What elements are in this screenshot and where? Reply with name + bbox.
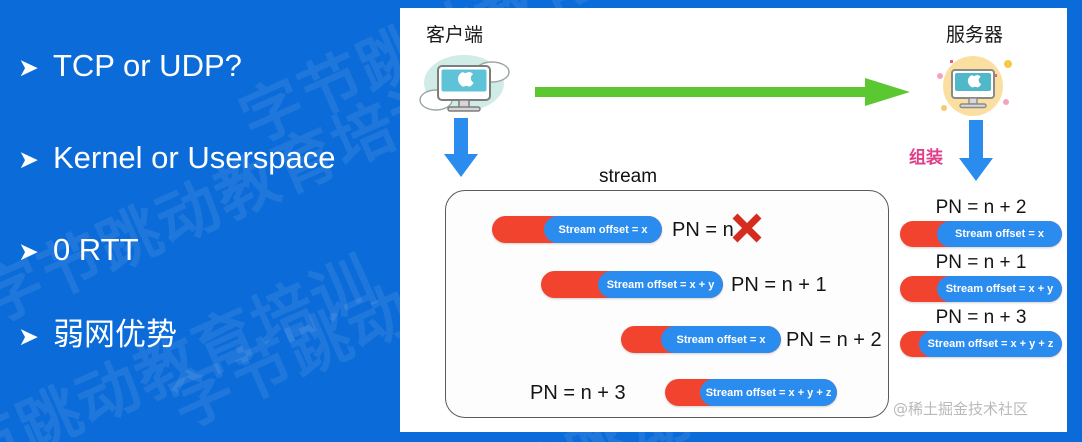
stream-offset-label: Stream offset = x bbox=[661, 326, 781, 353]
assemble-label: 组装 bbox=[909, 143, 943, 168]
packet-number-label: PN = n + 2 bbox=[786, 329, 882, 352]
bullet-item-zero-rtt: ➤ 0 RTT bbox=[18, 234, 139, 265]
packet-number-label: PN = n + 1 bbox=[731, 274, 827, 297]
bullet-item-weak-network-advantage: ➤ 弱网优势 bbox=[18, 320, 177, 351]
stream-offset-label: Stream offset = x + y bbox=[598, 271, 723, 298]
stream-offset-label: Stream offset = x + y + z bbox=[919, 331, 1062, 357]
right-edge-strip bbox=[1071, 0, 1082, 442]
client-label: 客户端 bbox=[426, 20, 483, 47]
red-x-icon bbox=[730, 211, 764, 245]
reassembled-packet: Stream offset = x bbox=[900, 221, 1062, 247]
bullet-item-kernel-or-userspace: ➤ Kernel or Userspace bbox=[18, 142, 336, 173]
bullet-arrow-icon: ➤ bbox=[18, 147, 39, 172]
reassembled-packet: Stream offset = x + y bbox=[900, 276, 1062, 302]
green-right-arrow-icon bbox=[535, 70, 910, 114]
bullet-label: Kernel or Userspace bbox=[53, 142, 336, 173]
stream-offset-label: Stream offset = x bbox=[937, 221, 1062, 247]
packet-number-label: PN = n + 1 bbox=[900, 253, 1062, 273]
server-label: 服务器 bbox=[946, 20, 1003, 47]
packet-number-label: PN = n + 3 bbox=[900, 308, 1062, 328]
bullet-item-tcp-or-udp: ➤ TCP or UDP? bbox=[18, 50, 242, 81]
quic-stream-diagram: 客户端 服务器 组装 bbox=[400, 8, 1067, 432]
stream-packet: Stream offset = x bbox=[492, 216, 662, 243]
bullet-arrow-icon: ➤ bbox=[18, 55, 39, 80]
blue-down-arrow-icon bbox=[955, 120, 997, 182]
blue-down-arrow-icon bbox=[440, 118, 482, 178]
reassembled-packet: Stream offset = x + y + z bbox=[900, 331, 1062, 357]
apple-monitor-burst-icon bbox=[928, 48, 1018, 124]
bullet-arrow-icon: ➤ bbox=[18, 324, 39, 349]
stream-offset-label: Stream offset = x bbox=[544, 216, 662, 243]
stream-packet: Stream offset = x + y + z bbox=[665, 379, 837, 406]
stream-packet: Stream offset = x bbox=[621, 326, 781, 353]
bullet-arrow-icon: ➤ bbox=[18, 239, 39, 264]
stream-label: stream bbox=[599, 166, 657, 188]
stream-offset-label: Stream offset = x + y bbox=[937, 276, 1062, 302]
bullet-list-panel: ➤ TCP or UDP? ➤ Kernel or Userspace ➤ 0 … bbox=[0, 0, 400, 442]
packet-number-label: PN = n bbox=[672, 219, 734, 242]
site-watermark: @稀土掘金技术社区 bbox=[893, 398, 1028, 419]
stream-packet: Stream offset = x + y bbox=[541, 271, 723, 298]
packet-number-label: PN = n + 2 bbox=[900, 198, 1062, 218]
bullet-label: 0 RTT bbox=[53, 234, 139, 265]
packet-number-label: PN = n + 3 bbox=[530, 382, 626, 405]
bullet-label: TCP or UDP? bbox=[53, 50, 242, 81]
apple-monitor-cloud-icon bbox=[416, 50, 512, 120]
stream-offset-label: Stream offset = x + y + z bbox=[700, 379, 837, 406]
bullet-label: 弱网优势 bbox=[53, 320, 177, 351]
reassembled-packet-list: PN = n + 2 Stream offset = x PN = n + 1 … bbox=[900, 198, 1062, 363]
